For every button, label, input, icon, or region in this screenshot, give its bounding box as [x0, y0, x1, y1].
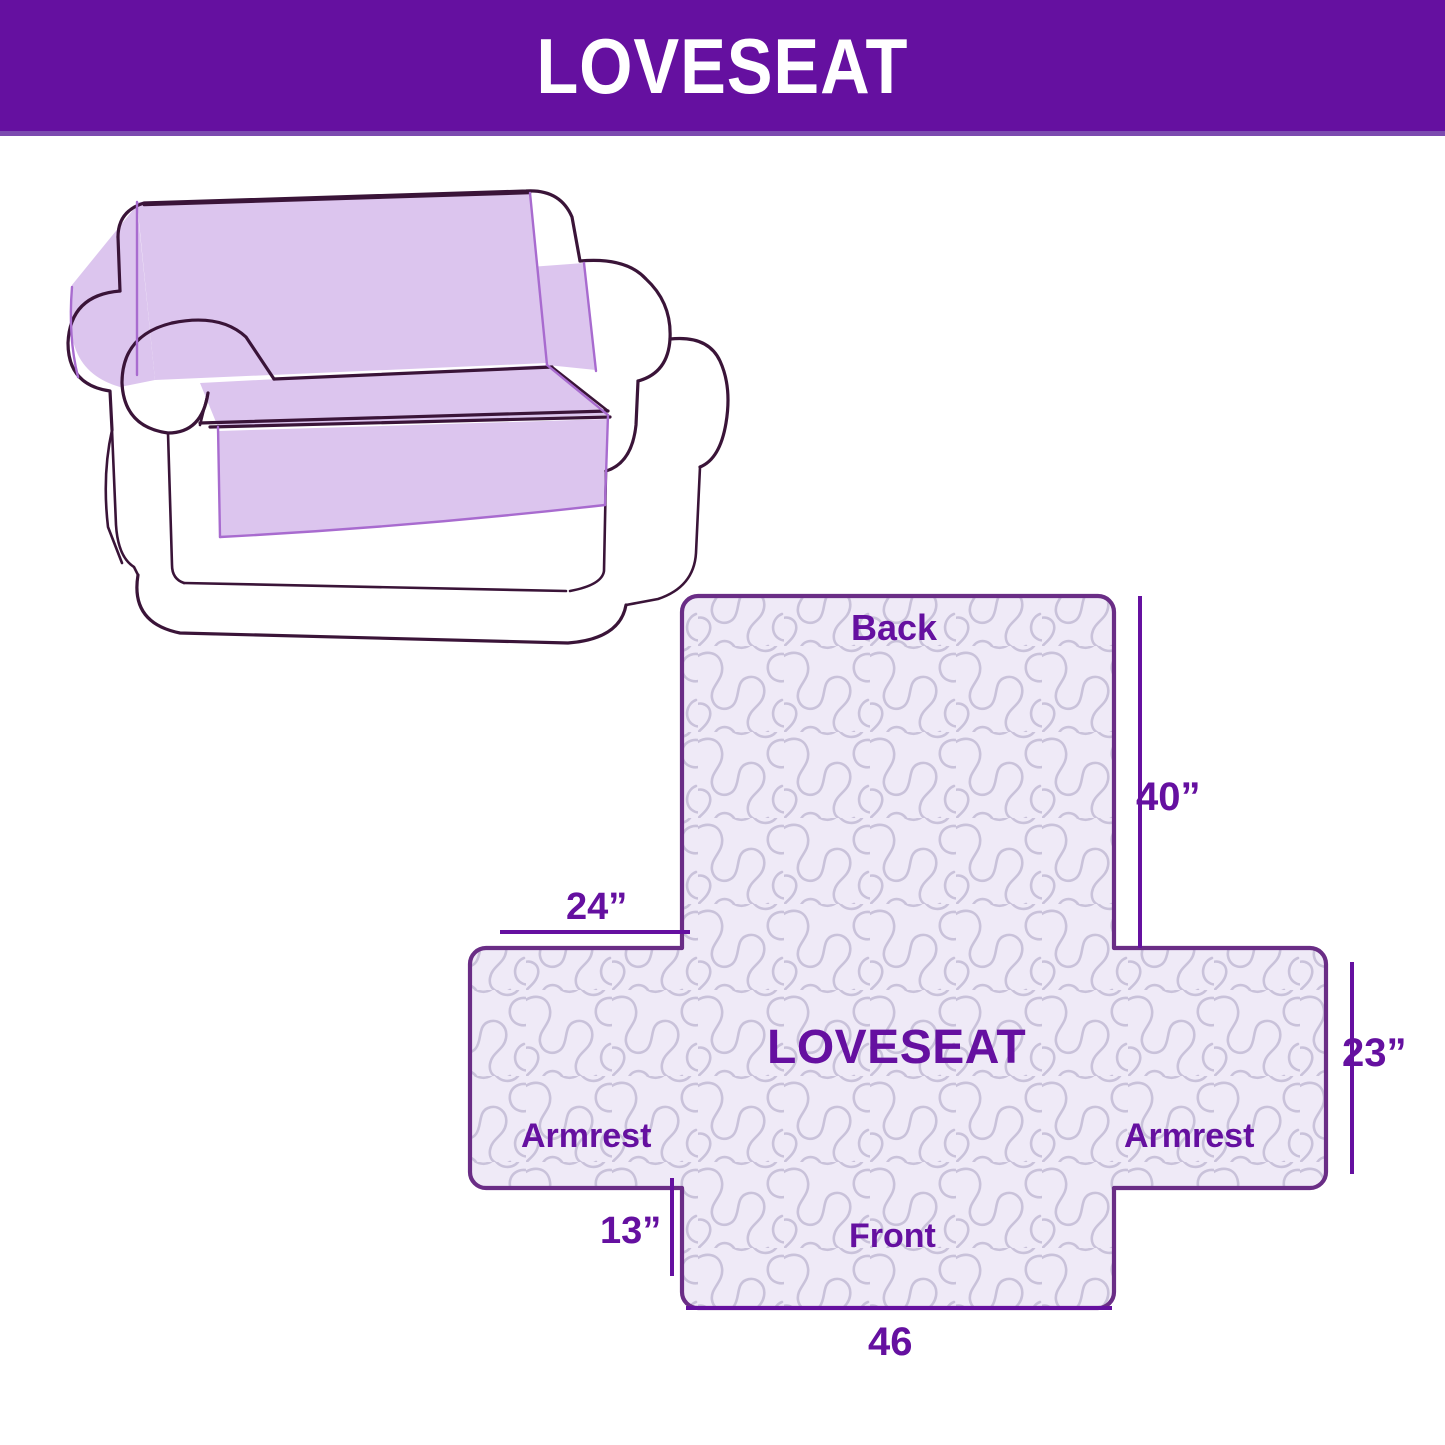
- dimension-label-armrest-width: 24”: [566, 886, 627, 929]
- header-underline-divider: [0, 131, 1445, 136]
- panel-label-armrest-left: Armrest: [521, 1117, 651, 1156]
- panel-label-front: Front: [849, 1217, 936, 1256]
- panel-label-back: Back: [851, 607, 937, 649]
- page-title: LOVESEAT: [537, 27, 909, 105]
- dimension-label-back-height: 40”: [1136, 775, 1201, 820]
- cover-cross-shape: [440, 560, 1440, 1390]
- dimension-label-front-height: 13”: [600, 1210, 661, 1253]
- dimension-label-armrest-height: 23”: [1342, 1031, 1407, 1076]
- dimension-label-front-width: 46: [868, 1320, 913, 1365]
- header-banner: LOVESEAT: [0, 0, 1445, 131]
- panel-label-armrest-right: Armrest: [1124, 1117, 1254, 1156]
- panel-label-center: LOVESEAT: [767, 1020, 1026, 1075]
- cover-shape-diagram: [440, 560, 1440, 1390]
